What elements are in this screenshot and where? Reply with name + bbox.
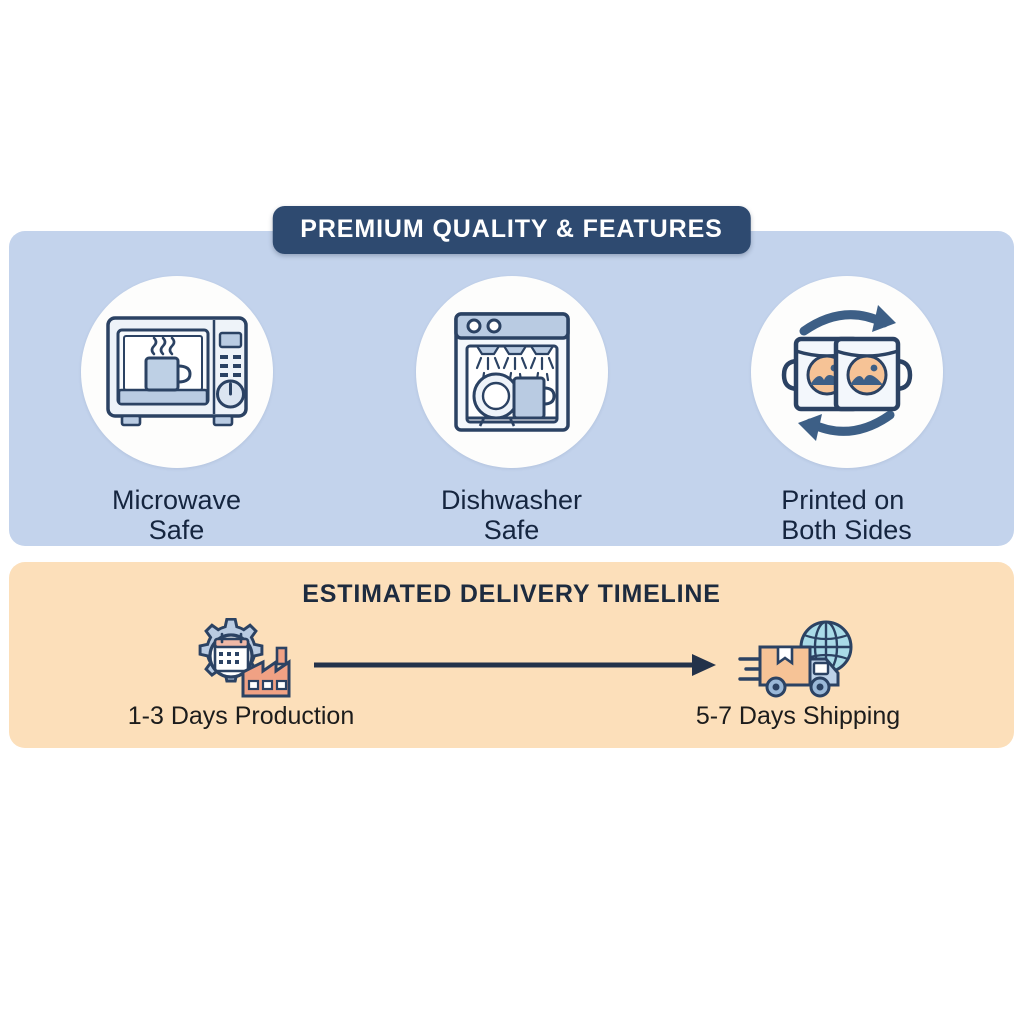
premium-features-panel: PREMIUM QUALITY & FEATURES xyxy=(9,231,1014,546)
timeline-stage-shipping: 5-7 Days Shipping xyxy=(638,620,958,731)
timeline-label-shipping: 5-7 Days Shipping xyxy=(696,702,900,731)
feature-icon-circle xyxy=(81,276,273,468)
feature-item-printed-both-sides: Printed on Both Sides xyxy=(697,276,997,545)
feature-label-microwave-safe: Microwave Safe xyxy=(112,485,241,545)
gear-calendar-factory-icon xyxy=(187,620,295,698)
estimated-delivery-panel: ESTIMATED DELIVERY TIMELINE xyxy=(9,562,1014,748)
feature-list: Microwave Safe xyxy=(9,276,1014,546)
feature-label-printed-both-sides: Printed on Both Sides xyxy=(781,485,912,545)
feature-item-dishwasher-safe: Dishwasher Safe xyxy=(362,276,662,545)
feature-icon-circle xyxy=(416,276,608,468)
feature-item-microwave-safe: Microwave Safe xyxy=(27,276,327,545)
delivery-timeline: 1-3 Days Production xyxy=(9,620,1014,740)
dishwasher-icon xyxy=(448,308,576,436)
two-mugs-rotation-icon xyxy=(762,297,932,447)
timeline-label-production: 1-3 Days Production xyxy=(128,702,355,731)
infographic-canvas: PREMIUM QUALITY & FEATURES xyxy=(0,0,1024,1024)
premium-features-header-pill: PREMIUM QUALITY & FEATURES xyxy=(272,206,750,254)
feature-icon-circle xyxy=(751,276,943,468)
microwave-icon xyxy=(102,310,252,434)
delivery-truck-globe-icon xyxy=(738,620,858,698)
premium-features-header-label: PREMIUM QUALITY & FEATURES xyxy=(300,217,722,242)
delivery-timeline-title: ESTIMATED DELIVERY TIMELINE xyxy=(9,580,1014,609)
feature-label-dishwasher-safe: Dishwasher Safe xyxy=(441,485,582,545)
